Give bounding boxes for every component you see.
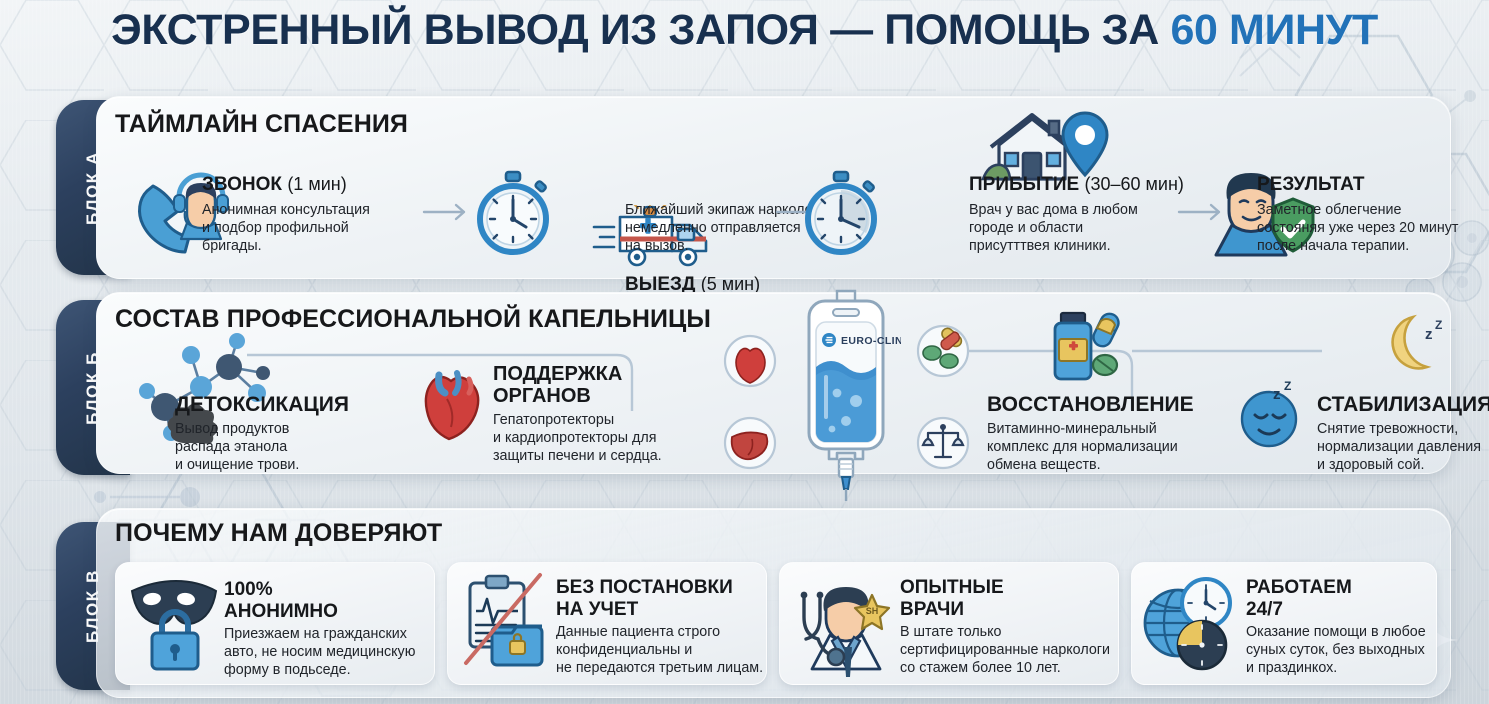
trust-card-2-title: БЕЗ ПОСТАНОВКИ НА УЧЕТ <box>556 577 733 620</box>
timeline-step-1-time: (1 мин) <box>287 174 346 194</box>
timeline-step-4-title-text: РЕЗУЛЬТАТ <box>1257 174 1364 195</box>
page-title: ЭКСТРЕННЫЙ ВЫВОД ИЗ ЗАПОЯ — ПОМОЩЬ ЗА 60… <box>0 6 1489 55</box>
satellite-scales-circle <box>915 415 971 471</box>
svg-text:EURO-CLINIC: EURO-CLINIC <box>841 335 901 347</box>
svg-text:Z: Z <box>1284 379 1291 393</box>
medicine-bottle-pills-icon <box>1045 309 1137 391</box>
timeline-step-1-title: ЗВОНОК (1 мин) <box>202 175 347 196</box>
timeline-step-3-time: (30–60 мин) <box>1084 174 1183 194</box>
dropper-item-1-desc: Вывод продуктов распада этанола и очищен… <box>175 420 405 474</box>
panel-block-b: СОСТАВ ПРОФЕССИОНАЛЬНОЙ КАПЕЛЬНИЦЫ <box>96 292 1451 474</box>
panel-block-v: ПОЧЕМУ НАМ ДОВЕРЯЮТ 100% АНОНИМНО Приезж… <box>96 508 1451 698</box>
svg-text:z: z <box>1425 326 1433 343</box>
iv-drip-bag-icon: EURO-CLINIC <box>791 289 901 504</box>
panel-a-heading: ТАЙМЛАЙН СПАСЕНИЯ <box>115 110 408 139</box>
doctor-stethoscope-icon: SH <box>786 571 896 677</box>
globe-clock-icon <box>1140 571 1242 675</box>
dropper-item-3-desc: Витаминно-минеральный комплекс для норма… <box>987 420 1237 474</box>
timeline-step-4-desc: Заметное облегчение состояняя уже через … <box>1257 201 1489 255</box>
trust-card-4-desc: Оказание помощи в любое суных суток, без… <box>1246 623 1441 677</box>
timeline-step-1-title-text: ЗВОНОК <box>202 174 282 195</box>
trust-card-3[interactable]: SH ОПЫТНЫЕ ВРАЧИ В штате только сертифиц… <box>779 562 1119 685</box>
moon-zzz-icon: z Z <box>1379 311 1453 379</box>
heart-organ-icon <box>417 365 485 443</box>
svg-text:z: z <box>1273 386 1281 403</box>
panel-block-a: ТАЙМЛАЙН СПАСЕНИЯ ЗВОНОК (1 мин) Анонимн… <box>96 96 1451 279</box>
trust-card-3-desc: В штате только сертифицированные нарколо… <box>900 623 1115 677</box>
timeline-step-3-title-text: ПРИБЫТИЕ <box>969 174 1079 195</box>
page-title-accent: 60 МИНУТ <box>1170 6 1377 54</box>
sleeping-face-icon: z Z <box>1235 379 1311 451</box>
clipboard-crossed-out-icon <box>458 571 552 675</box>
trust-card-2[interactable]: БЕЗ ПОСТАНОВКИ НА УЧЕТ Данные пациента с… <box>447 562 767 685</box>
trust-card-1-desc: Приезжаем на гражданских авто, не носим … <box>224 625 434 679</box>
dropper-item-3-title: ВОССТАНОВЛЕНИЕ <box>987 393 1194 416</box>
dropper-item-2-title: ПОДДЕРЖКА ОРГАНОВ <box>493 363 622 408</box>
page-title-main: ЭКСТРЕННЫЙ ВЫВОД ИЗ ЗАПОЯ — ПОМОЩЬ ЗА <box>111 6 1170 54</box>
infographic-root: ЭКСТРЕННЫЙ ВЫВОД ИЗ ЗАПОЯ — ПОМОЩЬ ЗА 60… <box>0 0 1489 704</box>
trust-card-3-title: ОПЫТНЫЕ ВРАЧИ <box>900 577 1004 620</box>
timeline-step-2-time: (5 мин) <box>701 274 760 294</box>
mask-padlock-icon <box>126 573 220 673</box>
timeline-step-3-title: ПРИБЫТИЕ (30–60 мин) <box>969 175 1184 196</box>
panel-v-heading: ПОЧЕМУ НАМ ДОВЕРЯЮТ <box>115 519 442 548</box>
satellite-heart-circle <box>722 333 778 389</box>
dropper-item-1-title: ДЕТОКСИКАЦИЯ <box>175 393 349 416</box>
trust-card-4[interactable]: РАБОТАЕМ 24/7 Оказание помощи в любое су… <box>1131 562 1437 685</box>
dropper-item-2-desc: Гепатопротекторы и кардиопротекторы для … <box>493 411 723 465</box>
stopwatch-icon <box>469 169 557 257</box>
star-badge-text: SH <box>866 606 879 616</box>
satellite-pills-circle <box>915 323 971 379</box>
dropper-item-4-title: СТАБИЛИЗАЦИЯ <box>1317 393 1489 416</box>
stopwatch-icon-2 <box>797 169 885 257</box>
timeline-step-4-title: РЕЗУЛЬТАТ <box>1257 175 1364 196</box>
trust-card-4-title: РАБОТАЕМ 24/7 <box>1246 577 1352 620</box>
dropper-item-4-desc: Снятие тревожности, нормализации давлени… <box>1317 420 1489 474</box>
trust-card-1-title: 100% АНОНИМНО <box>224 579 338 622</box>
arrow-right-icon <box>422 201 474 223</box>
svg-text:Z: Z <box>1435 318 1442 332</box>
satellite-liver-circle <box>722 415 778 471</box>
trust-card-1[interactable]: 100% АНОНИМНО Приезжаем на гражданских а… <box>115 562 435 685</box>
trust-card-2-desc: Данные пациента строго конфиденциальны и… <box>556 623 766 677</box>
